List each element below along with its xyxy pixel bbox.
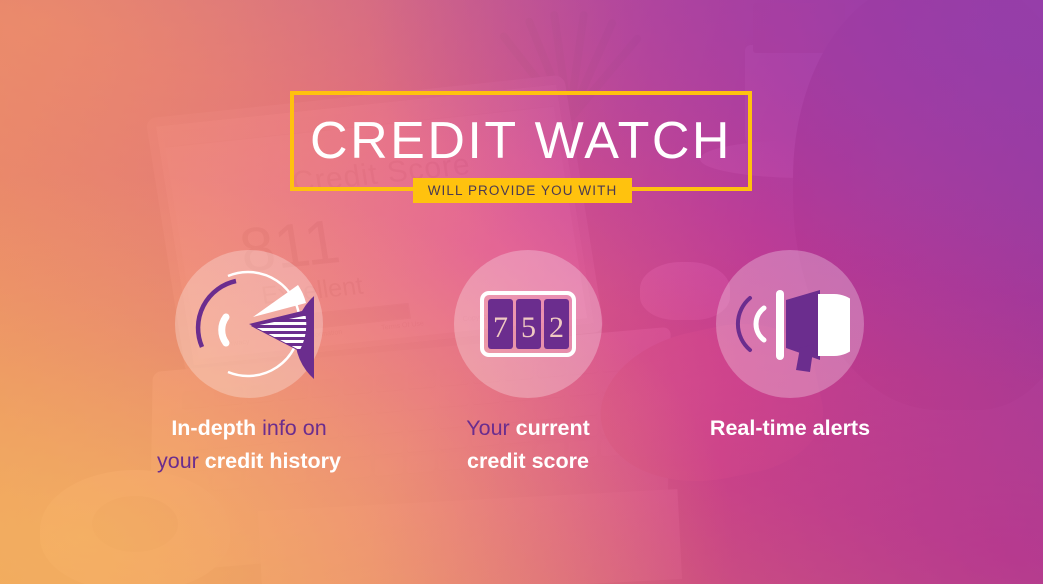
caption-part: info on <box>262 416 327 440</box>
caption-part: In-depth <box>171 416 262 440</box>
subtitle-text: WILL PROVIDE YOU WITH <box>428 183 618 198</box>
credit-score-digits-icon: 7 5 2 <box>454 250 602 398</box>
slide-canvas: Credit Score 811 Excellent Privacy Legal… <box>0 0 1043 584</box>
feature-caption: Real-time alerts <box>670 412 910 445</box>
feature-item-alerts: Real-time alerts <box>670 250 910 445</box>
icon-backdrop-circle <box>175 250 323 398</box>
subtitle-banner: WILL PROVIDE YOU WITH <box>413 178 632 203</box>
caption-part: your <box>157 449 205 473</box>
caption-part: credit history <box>205 449 341 473</box>
icon-backdrop-circle: 7 5 2 <box>454 250 602 398</box>
megaphone-icon <box>716 250 864 398</box>
icon-backdrop-circle <box>716 250 864 398</box>
caption-part: Real-time alerts <box>710 416 870 440</box>
title-frame: CREDIT WATCH <box>290 91 752 191</box>
caption-part: current <box>516 416 590 440</box>
page-title: CREDIT WATCH <box>294 115 748 167</box>
svg-text:7: 7 <box>493 311 508 344</box>
caption-part: credit score <box>467 449 589 473</box>
svg-text:2: 2 <box>549 311 564 344</box>
slide-content: CREDIT WATCH WILL PROVIDE YOU WITH <box>0 0 1043 584</box>
feature-caption: Your current credit score <box>410 412 646 478</box>
feature-item-credit-score: 7 5 2 Your current credit score <box>410 250 646 478</box>
feature-caption: In-depth info on your credit history <box>125 412 373 478</box>
caption-part: Your <box>466 416 515 440</box>
pie-chart-icon <box>175 250 323 398</box>
svg-text:5: 5 <box>521 311 536 344</box>
feature-item-credit-history: In-depth info on your credit history <box>125 250 373 478</box>
